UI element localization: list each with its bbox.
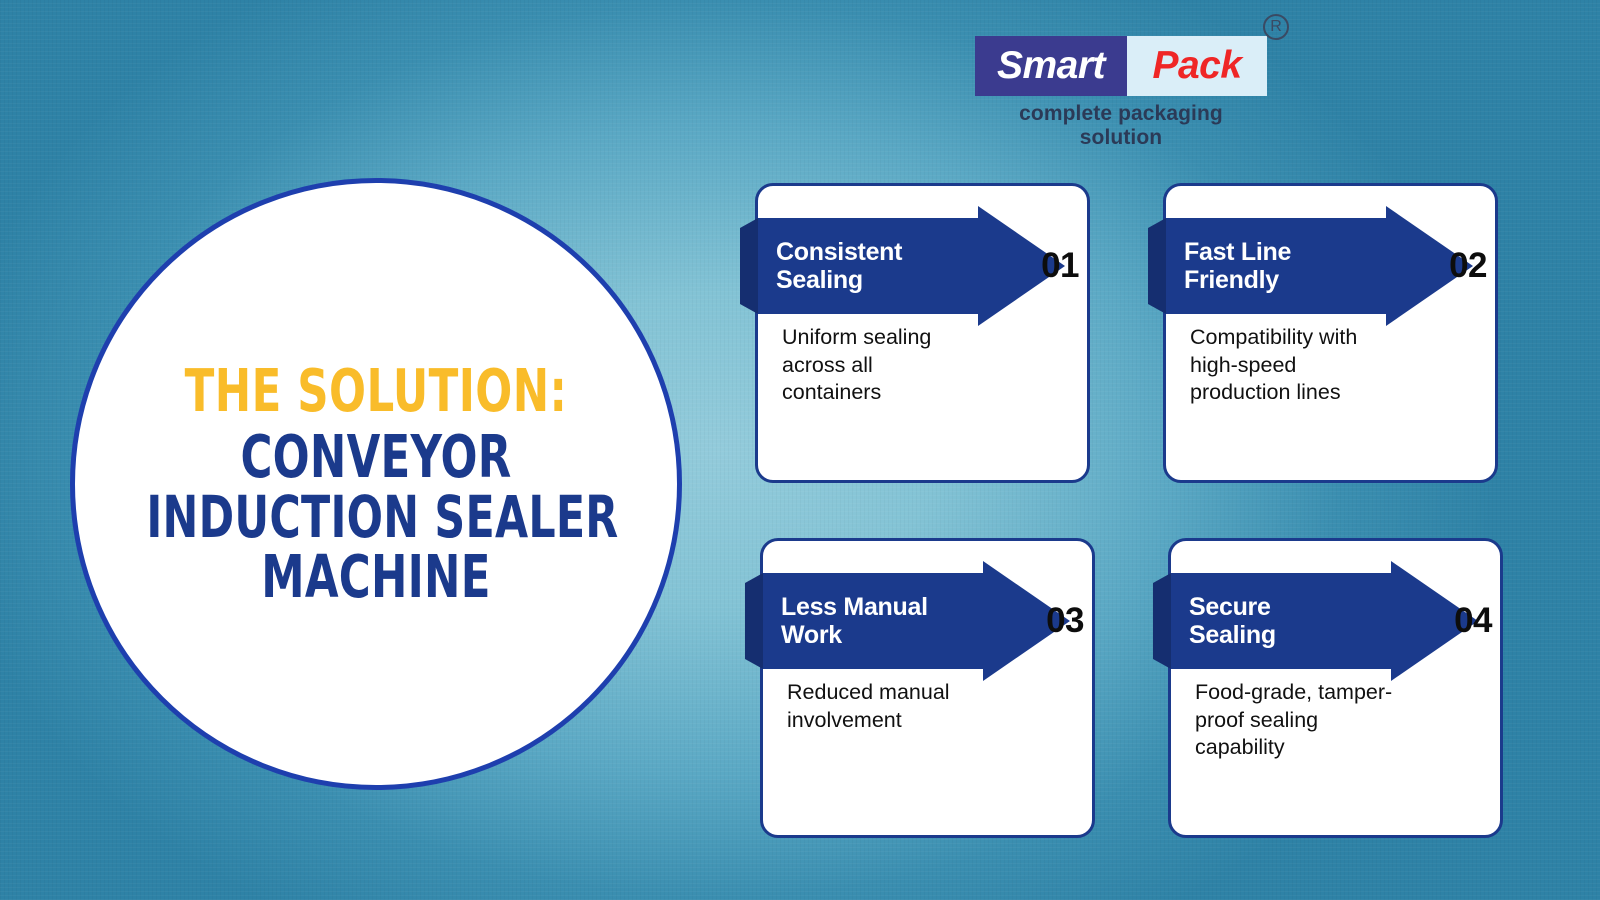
- logo-tagline: complete packaging solution: [975, 102, 1267, 150]
- logo-smart-block: Smart: [975, 36, 1127, 96]
- page-title-line-3: INDUCTION SEALER: [146, 488, 605, 547]
- card-number: 03: [1046, 601, 1084, 641]
- card-number: 01: [1041, 246, 1079, 286]
- card-body-text: Compatibility with high-speed production…: [1190, 324, 1479, 407]
- logo-smart-text: Smart: [997, 44, 1105, 88]
- card-body-text: Food-grade, tamper- proof sealing capabi…: [1195, 679, 1484, 762]
- feature-card[interactable]: Secure Sealing 04 Food-grade, tamper- pr…: [1168, 538, 1503, 838]
- arrow-banner: Fast Line Friendly: [1148, 218, 1473, 314]
- page-title-line-2: CONVEYOR: [146, 427, 605, 487]
- card-heading: Consistent Sealing: [776, 238, 902, 294]
- logo-pack-block: Pack: [1127, 36, 1267, 96]
- logo-pack-text: Pack: [1152, 44, 1241, 88]
- feature-card[interactable]: Fast Line Friendly 02 Compatibility with…: [1163, 183, 1498, 483]
- title-circle: THE SOLUTION: CONVEYOR INDUCTION SEALER …: [70, 178, 682, 790]
- feature-card[interactable]: Less Manual Work 03 Reduced manual invol…: [760, 538, 1095, 838]
- card-body-text: Uniform sealing across all containers: [782, 324, 1071, 407]
- poster-canvas: Smart Pack R complete packaging solution…: [0, 0, 1600, 900]
- logo-wordmark: Smart Pack R: [975, 36, 1267, 96]
- card-number: 02: [1449, 246, 1487, 286]
- registered-trademark-icon: R: [1263, 14, 1289, 40]
- arrow-banner: Consistent Sealing: [740, 218, 1065, 314]
- arrow-banner: Less Manual Work: [745, 573, 1070, 669]
- card-heading: Less Manual Work: [781, 593, 928, 649]
- page-title-line-4: MACHINE: [146, 547, 605, 607]
- card-heading: Fast Line Friendly: [1184, 238, 1291, 294]
- title-group: THE SOLUTION: CONVEYOR INDUCTION SEALER …: [96, 361, 656, 607]
- page-title-line-1: THE SOLUTION:: [146, 361, 605, 421]
- feature-card[interactable]: Consistent Sealing 01 Uniform sealing ac…: [755, 183, 1090, 483]
- card-body-text: Reduced manual involvement: [787, 679, 1076, 734]
- arrow-banner: Secure Sealing: [1153, 573, 1478, 669]
- card-number: 04: [1454, 601, 1492, 641]
- brand-logo: Smart Pack R complete packaging solution: [975, 36, 1305, 141]
- card-heading: Secure Sealing: [1189, 593, 1276, 649]
